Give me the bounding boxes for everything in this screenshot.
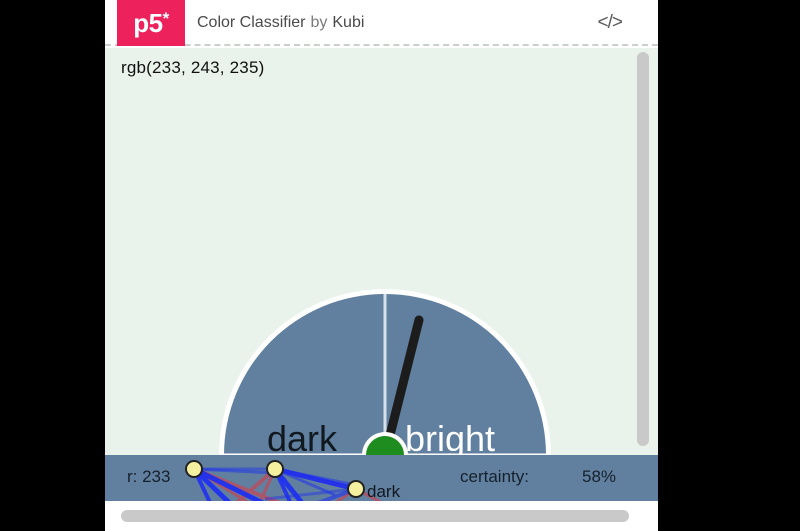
network-output-label: dark (367, 482, 400, 501)
network-node (186, 461, 202, 477)
sketch-name: Color Classifier (197, 14, 305, 32)
network-node (348, 481, 364, 497)
vertical-scrollbar-thumb[interactable] (637, 52, 649, 446)
sketch-author[interactable]: Kubi (332, 14, 364, 32)
horizontal-scrollbar[interactable] (105, 501, 658, 531)
vertical-scrollbar[interactable] (637, 52, 649, 446)
p5-logo-star: * (163, 10, 169, 27)
sketch-header: p5* Color Classifier by Kubi </> (105, 0, 658, 46)
screen-root: p5* Color Classifier by Kubi </> rgb(233… (0, 0, 800, 531)
p5-canvas[interactable]: rgb(233, 243, 235) (105, 48, 658, 501)
sketch-panel: p5* Color Classifier by Kubi </> rgb(233… (105, 0, 658, 531)
network-node (267, 461, 283, 477)
sketch-title: Color Classifier by Kubi (197, 0, 364, 46)
by-word: by (310, 14, 327, 32)
horizontal-scrollbar-thumb[interactable] (121, 510, 629, 522)
gauge-label-bright: bright (405, 421, 495, 457)
p5-logo-text: p5 (133, 10, 162, 36)
status-band: r: 233 dark certainty: 58% (105, 455, 658, 501)
certainty-value: 58% (582, 467, 616, 487)
rgb-readout: rgb(233, 243, 235) (121, 58, 264, 78)
code-brackets-icon[interactable]: </> (598, 0, 622, 46)
p5-logo[interactable]: p5* (117, 0, 185, 46)
gauge-label-dark: dark (267, 421, 337, 457)
r-channel-value: r: 233 (127, 467, 170, 487)
certainty-label: certainty: (460, 467, 529, 487)
